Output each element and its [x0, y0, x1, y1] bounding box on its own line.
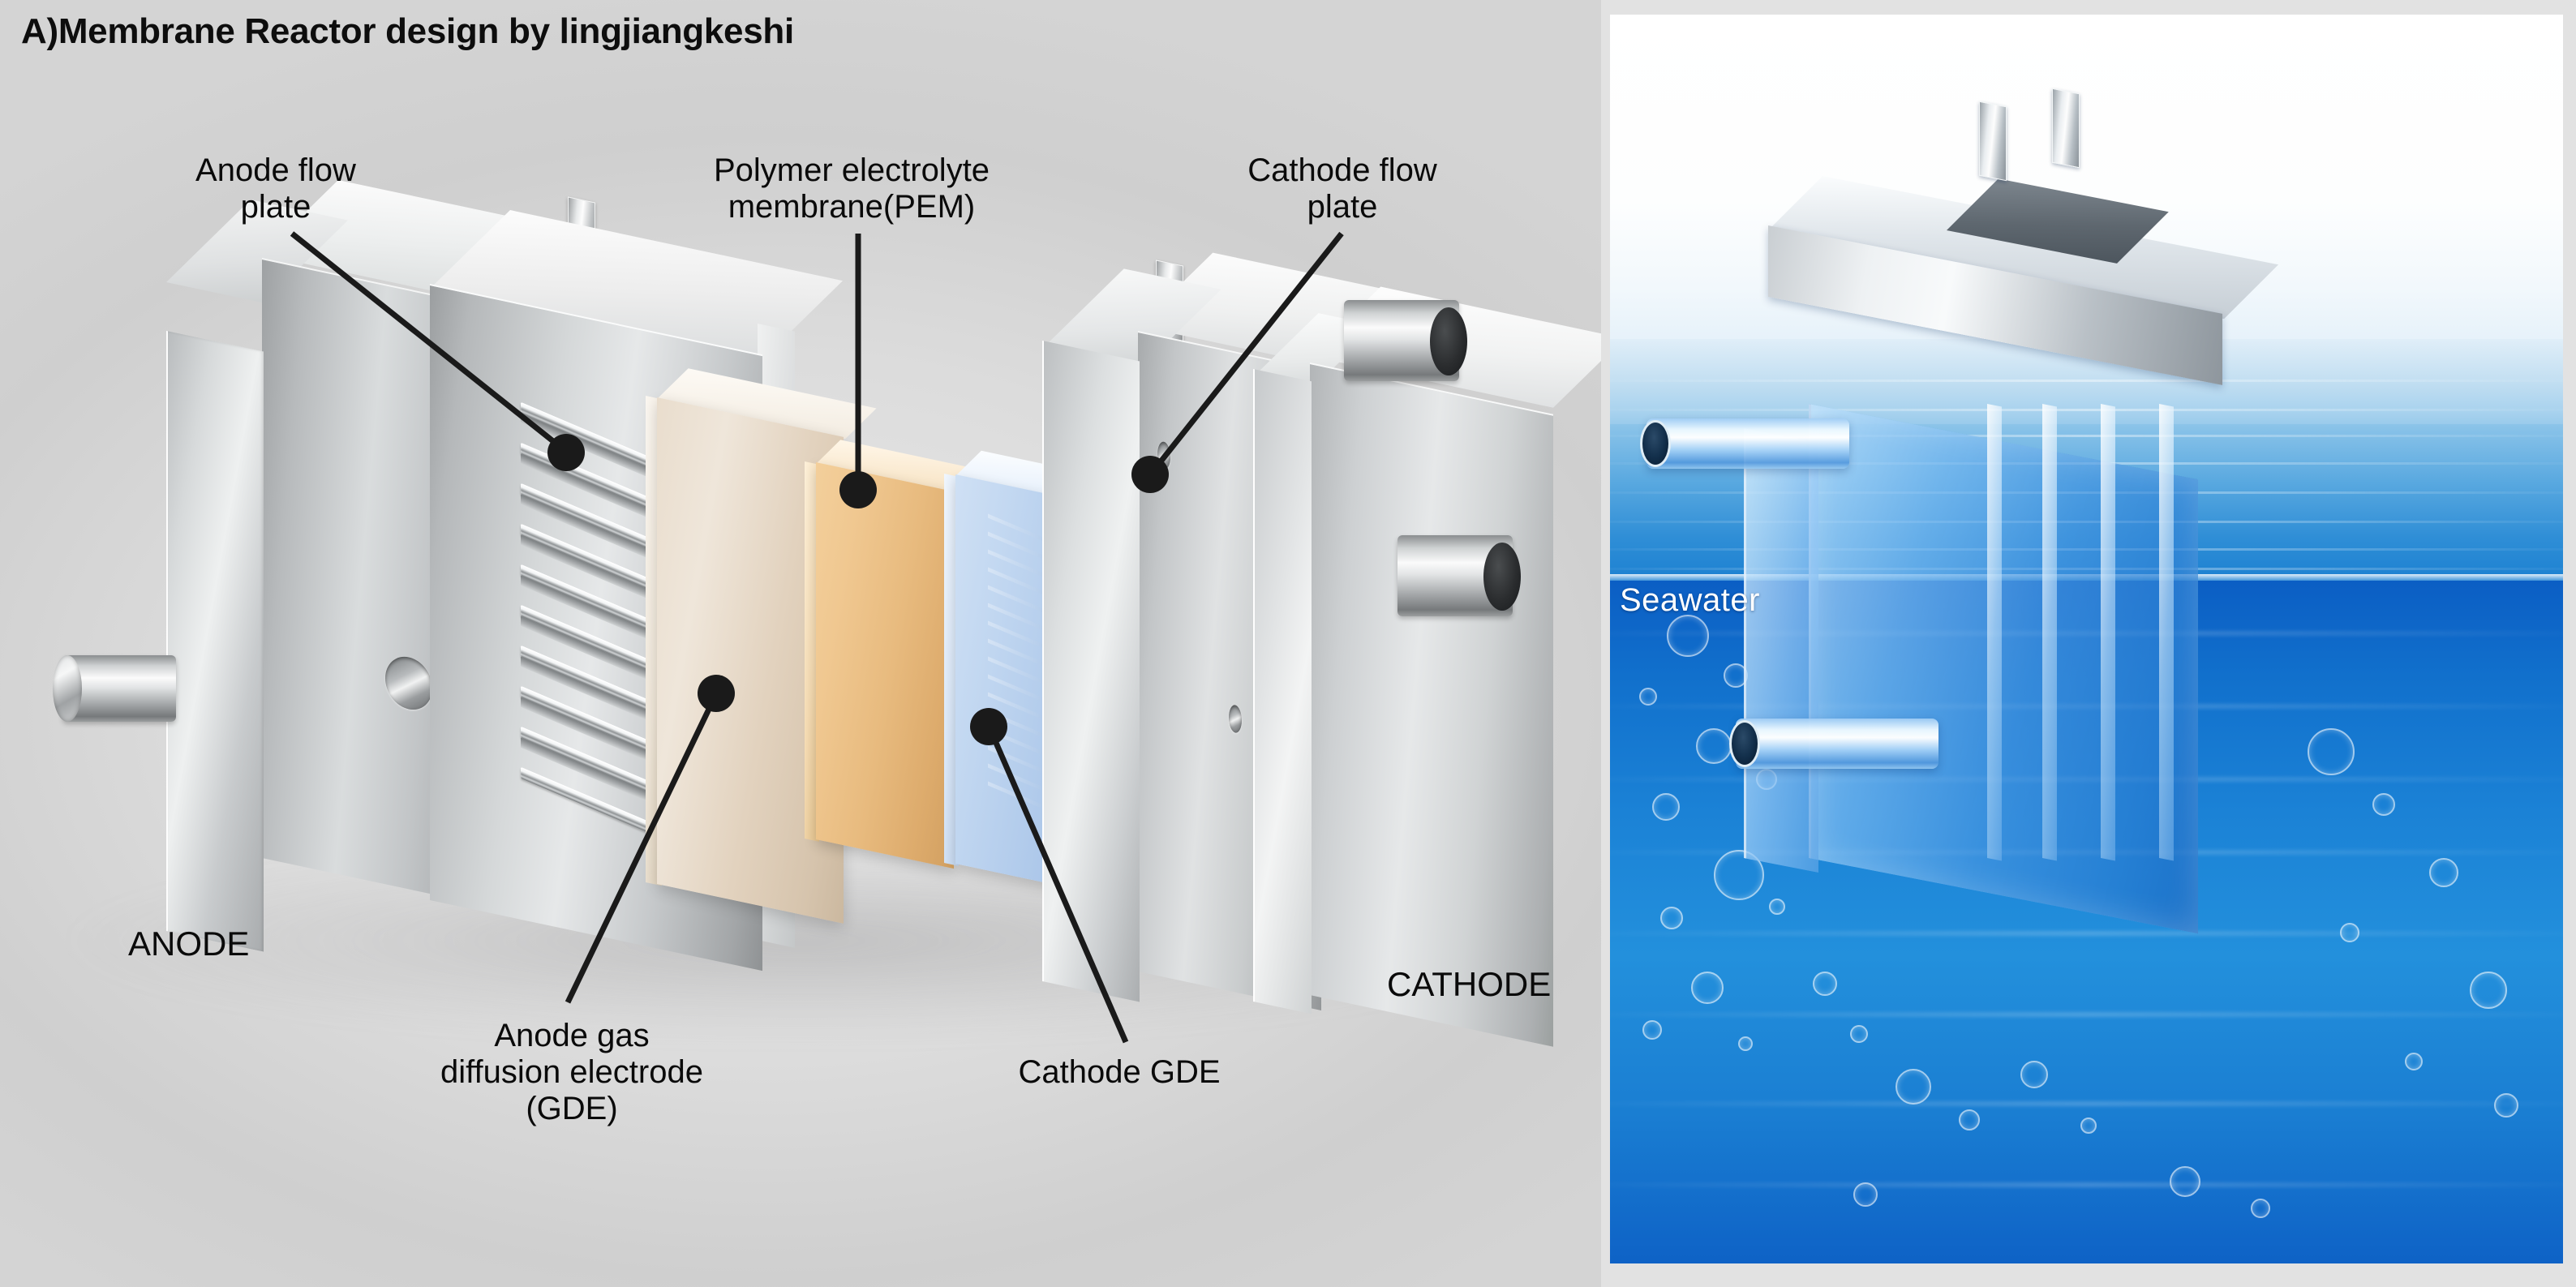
cathode-end-plate-side-face [1310, 363, 1553, 1047]
reactor-plate-seam-3 [2101, 404, 2115, 860]
cathode-end-plate [1253, 369, 1545, 1002]
figure-title: A)Membrane Reactor design by lingjiangke… [21, 11, 794, 52]
reactor-terminal-tab-right [2052, 88, 2080, 169]
callout-label-cathode-flow-plate: Cathode flow plate [1176, 152, 1509, 225]
anode-end-plate [166, 268, 434, 868]
callout-label-anode-gde: Anode gas diffusion electrode (GDE) [292, 1018, 852, 1128]
reactor-front-panel [1744, 428, 1818, 873]
anode-end-plate-port-lower [385, 652, 432, 714]
figure-canvas: A)Membrane Reactor design by lingjiangke… [0, 0, 2576, 1287]
anode-inlet-tube-cap [53, 655, 82, 722]
callout-label-cathode-gde: Cathode GDE [957, 1054, 1282, 1091]
pem-front-face [816, 462, 954, 869]
side-label-anode: ANODE [128, 924, 249, 963]
cathode-outlet-bore-lower [1483, 543, 1521, 611]
anode-end-plate-front-face [166, 331, 264, 952]
seawater-scene-panel: Seawater [1610, 15, 2563, 1263]
reactor-body [1809, 404, 2198, 933]
cathode-flow-plate-front-face [1042, 341, 1140, 1002]
reactor-outlet-bore [1729, 720, 1760, 767]
assembled-reactor-stack [1744, 225, 2344, 939]
reactor-terminal-tab-left [1979, 101, 2007, 182]
seawater-label: Seawater [1620, 582, 1760, 619]
reactor-plate-seam-4 [2159, 404, 2174, 860]
cathode-end-plate-front-face [1253, 369, 1312, 1014]
cathode-flow-plate-port-upper [1157, 440, 1170, 470]
exploded-view-panel: A)Membrane Reactor design by lingjiangke… [0, 0, 1601, 1287]
side-label-cathode: CATHODE [1387, 965, 1551, 1003]
callout-label-anode-flow-plate: Anode flow plate [122, 152, 430, 225]
reactor-inlet-tube [1646, 418, 1849, 469]
reactor-plate-seam-1 [1987, 404, 2002, 860]
reactor-outlet-tube [1736, 719, 1938, 769]
cathode-outlet-bore-upper [1430, 307, 1467, 375]
callout-label-pem: Polymer electrolyte membrane(PEM) [641, 152, 1063, 225]
polymer-electrolyte-membrane [801, 462, 947, 852]
cathode-flow-plate-port-lower [1229, 704, 1242, 734]
reactor-inlet-bore [1640, 420, 1671, 467]
reactor-plate-seam-2 [2042, 404, 2057, 860]
